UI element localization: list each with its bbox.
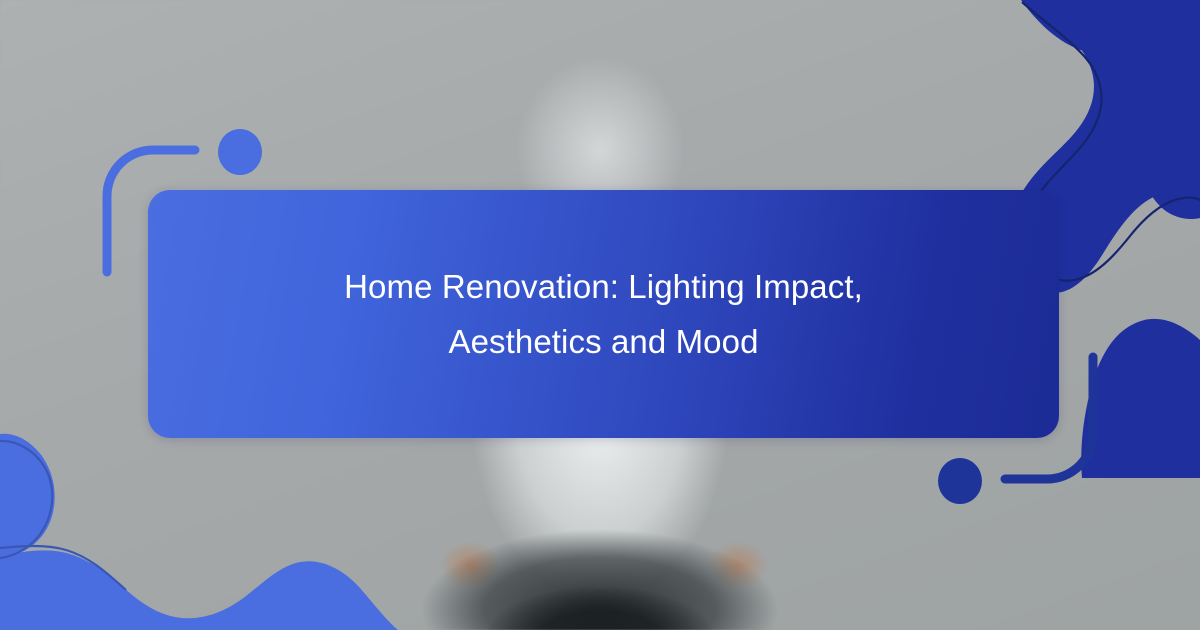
title-card: Home Renovation: Lighting Impact, Aesthe… xyxy=(148,190,1059,438)
page-title: Home Renovation: Lighting Impact, Aesthe… xyxy=(284,259,924,369)
banner-root: Home Renovation: Lighting Impact, Aesthe… xyxy=(0,0,1200,630)
